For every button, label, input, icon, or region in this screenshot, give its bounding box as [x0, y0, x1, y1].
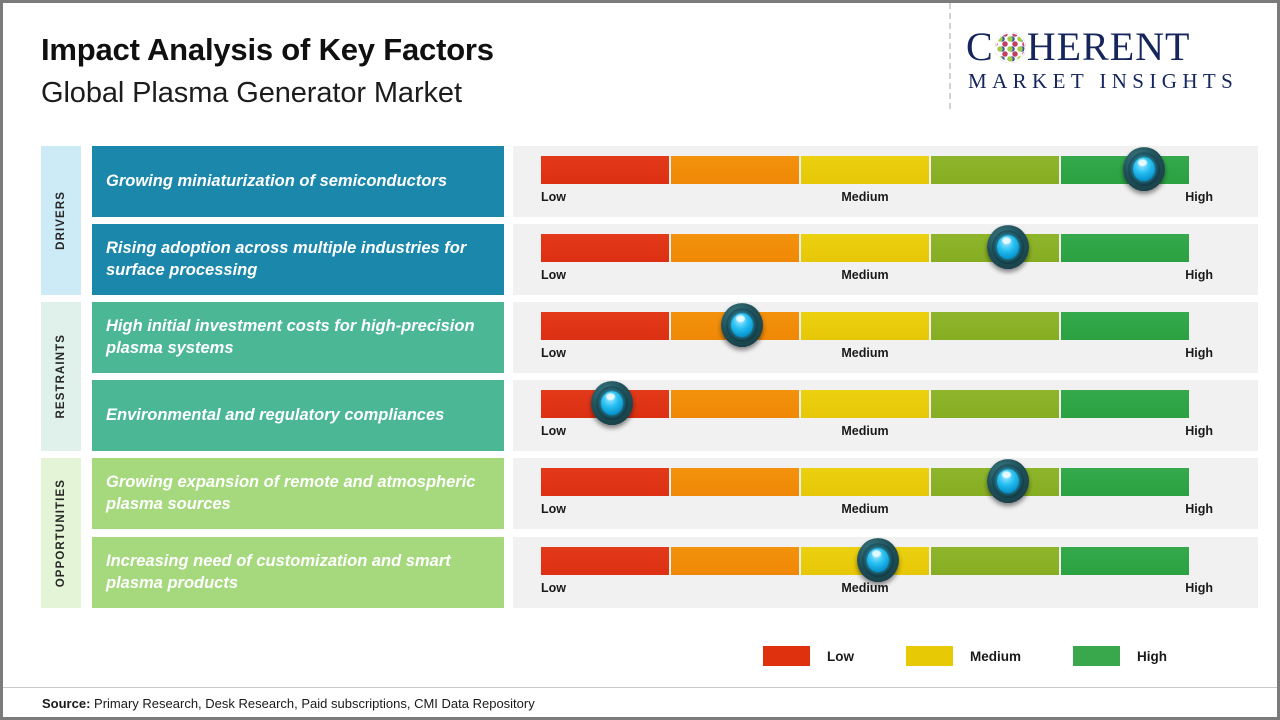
gauge-panel: LowMediumHigh [513, 380, 1258, 451]
factor-label: Growing miniaturization of semiconductor… [106, 171, 447, 193]
page-title: Impact Analysis of Key Factors [41, 32, 494, 69]
marker-highlight [1138, 159, 1147, 166]
scale-label-high: High [1185, 346, 1213, 360]
marker-highlight [1002, 471, 1011, 478]
category-strip-opportunities[interactable]: OPPORTUNITIES [41, 458, 81, 608]
legend-item: Medium [906, 646, 1021, 666]
legend-label: High [1137, 649, 1167, 664]
legend-swatch [1073, 646, 1120, 666]
impact-row: Growing expansion of remote and atmosphe… [3, 458, 1277, 535]
gauge-segment-4 [931, 547, 1061, 575]
impact-row: High initial investment costs for high-p… [3, 302, 1277, 379]
scale-labels: LowMediumHigh [541, 424, 1189, 444]
gauge-segment-1 [541, 547, 671, 575]
gauge-segment-3 [801, 234, 931, 262]
factor-label: Growing expansion of remote and atmosphe… [106, 472, 490, 516]
gauge-segment-3 [801, 156, 931, 184]
factor-box[interactable]: Growing miniaturization of semiconductor… [92, 146, 504, 217]
factor-label: High initial investment costs for high-p… [106, 316, 490, 360]
scale-label-medium: Medium [841, 268, 888, 282]
gauge-segment-2 [671, 156, 801, 184]
impact-marker[interactable] [987, 225, 1029, 269]
gauge-segment-4 [931, 390, 1061, 418]
scale-label-medium: Medium [841, 502, 888, 516]
gauge-panel: LowMediumHigh [513, 146, 1258, 217]
legend-item: Low [763, 646, 854, 666]
page-subtitle: Global Plasma Generator Market [41, 75, 494, 113]
gauge-segment-3 [801, 468, 931, 496]
dotted-globe-icon [995, 32, 1026, 63]
gauge-segment-2 [671, 468, 801, 496]
gauge-panel: LowMediumHigh [513, 458, 1258, 529]
gauge-segment-1 [541, 312, 671, 340]
gauge-segment-1 [541, 156, 671, 184]
impact-marker[interactable] [1123, 147, 1165, 191]
impact-row: Growing miniaturization of semiconductor… [3, 146, 1277, 223]
scale-label-high: High [1185, 502, 1213, 516]
marker-highlight [872, 550, 881, 557]
logo-letters-herent: HERENT [1027, 27, 1191, 67]
legend-label: Medium [970, 649, 1021, 664]
impact-row: Rising adoption across multiple industri… [3, 224, 1277, 301]
scale-label-low: Low [541, 581, 566, 595]
factor-label: Rising adoption across multiple industri… [106, 238, 490, 282]
header-dashed-divider [949, 3, 951, 109]
scale-label-medium: Medium [841, 346, 888, 360]
marker-highlight [736, 315, 745, 322]
gauge-segment-3 [801, 390, 931, 418]
scale-labels: LowMediumHigh [541, 502, 1189, 522]
impact-marker[interactable] [857, 538, 899, 582]
impact-marker[interactable] [987, 459, 1029, 503]
factor-box[interactable]: Rising adoption across multiple industri… [92, 224, 504, 295]
scale-label-low: Low [541, 502, 566, 516]
scale-label-low: Low [541, 346, 566, 360]
scale-label-medium: Medium [841, 424, 888, 438]
scale-label-low: Low [541, 424, 566, 438]
gauge-segment-2 [671, 547, 801, 575]
scale-label-medium: Medium [841, 581, 888, 595]
header: Impact Analysis of Key Factors Global Pl… [3, 3, 1277, 135]
scale-label-high: High [1185, 581, 1213, 595]
scale-label-high: High [1185, 424, 1213, 438]
logo-letter-c: C [966, 27, 994, 67]
category-label: RESTRAINTS [55, 334, 67, 418]
source-text: Primary Research, Desk Research, Paid su… [90, 696, 534, 711]
impact-marker[interactable] [721, 303, 763, 347]
gauge-bar[interactable] [541, 312, 1189, 340]
gauge-segment-1 [541, 468, 671, 496]
legend-label: Low [827, 649, 854, 664]
gauge-panel: LowMediumHigh [513, 302, 1258, 373]
category-label: OPPORTUNITIES [55, 479, 67, 587]
legend: LowMediumHigh [763, 646, 1167, 666]
factor-label: Environmental and regulatory compliances [106, 405, 444, 427]
gauge-segment-2 [671, 234, 801, 262]
marker-highlight [1002, 237, 1011, 244]
gauge-segment-2 [671, 390, 801, 418]
infographic-page: Impact Analysis of Key Factors Global Pl… [0, 0, 1280, 720]
scale-label-low: Low [541, 190, 566, 204]
gauge-segment-5 [1061, 547, 1189, 575]
gauge-bar[interactable] [541, 468, 1189, 496]
scale-label-high: High [1185, 190, 1213, 204]
factor-label: Increasing need of customization and sma… [106, 551, 490, 595]
scale-label-medium: Medium [841, 190, 888, 204]
gauge-bar[interactable] [541, 390, 1189, 418]
logo-tagline: MARKET INSIGHTS [968, 69, 1264, 94]
gauge-segment-4 [931, 156, 1061, 184]
footer-divider [3, 687, 1277, 688]
gauge-segment-5 [1061, 312, 1189, 340]
legend-swatch [763, 646, 810, 666]
scale-labels: LowMediumHigh [541, 268, 1189, 288]
scale-labels: LowMediumHigh [541, 346, 1189, 366]
source-note: Source: Primary Research, Desk Research,… [42, 696, 535, 711]
logo-wordmark: C HERENT [966, 27, 1264, 67]
scale-labels: LowMediumHigh [541, 190, 1189, 210]
impact-row: Environmental and regulatory compliances… [3, 380, 1277, 457]
gauge-segment-5 [1061, 468, 1189, 496]
gauge-segment-3 [801, 312, 931, 340]
gauge-segment-1 [541, 234, 671, 262]
impact-row: Increasing need of customization and sma… [3, 537, 1277, 614]
factor-box[interactable]: Increasing need of customization and sma… [92, 537, 504, 608]
gauge-segment-4 [931, 312, 1061, 340]
gauge-bar[interactable] [541, 234, 1189, 262]
legend-item: High [1073, 646, 1167, 666]
gauge-bar[interactable] [541, 156, 1189, 184]
gauge-segment-5 [1061, 234, 1189, 262]
gauge-panel: LowMediumHigh [513, 224, 1258, 295]
factor-box[interactable]: Environmental and regulatory compliances [92, 380, 504, 451]
scale-label-high: High [1185, 268, 1213, 282]
gauge-segment-5 [1061, 390, 1189, 418]
category-strip-restraints[interactable]: RESTRAINTS [41, 302, 81, 451]
gauge-panel: LowMediumHigh [513, 537, 1258, 608]
category-strip-drivers[interactable]: DRIVERS [41, 146, 81, 295]
scale-label-low: Low [541, 268, 566, 282]
title-block: Impact Analysis of Key Factors Global Pl… [41, 32, 494, 112]
category-label: DRIVERS [55, 191, 67, 250]
legend-swatch [906, 646, 953, 666]
source-label: Source: [42, 696, 90, 711]
marker-highlight [606, 393, 615, 400]
impact-marker[interactable] [591, 381, 633, 425]
company-logo: C HERENT MARKET INSIGHTS [966, 27, 1264, 94]
scale-labels: LowMediumHigh [541, 581, 1189, 601]
factor-box[interactable]: High initial investment costs for high-p… [92, 302, 504, 373]
factor-box[interactable]: Growing expansion of remote and atmosphe… [92, 458, 504, 529]
